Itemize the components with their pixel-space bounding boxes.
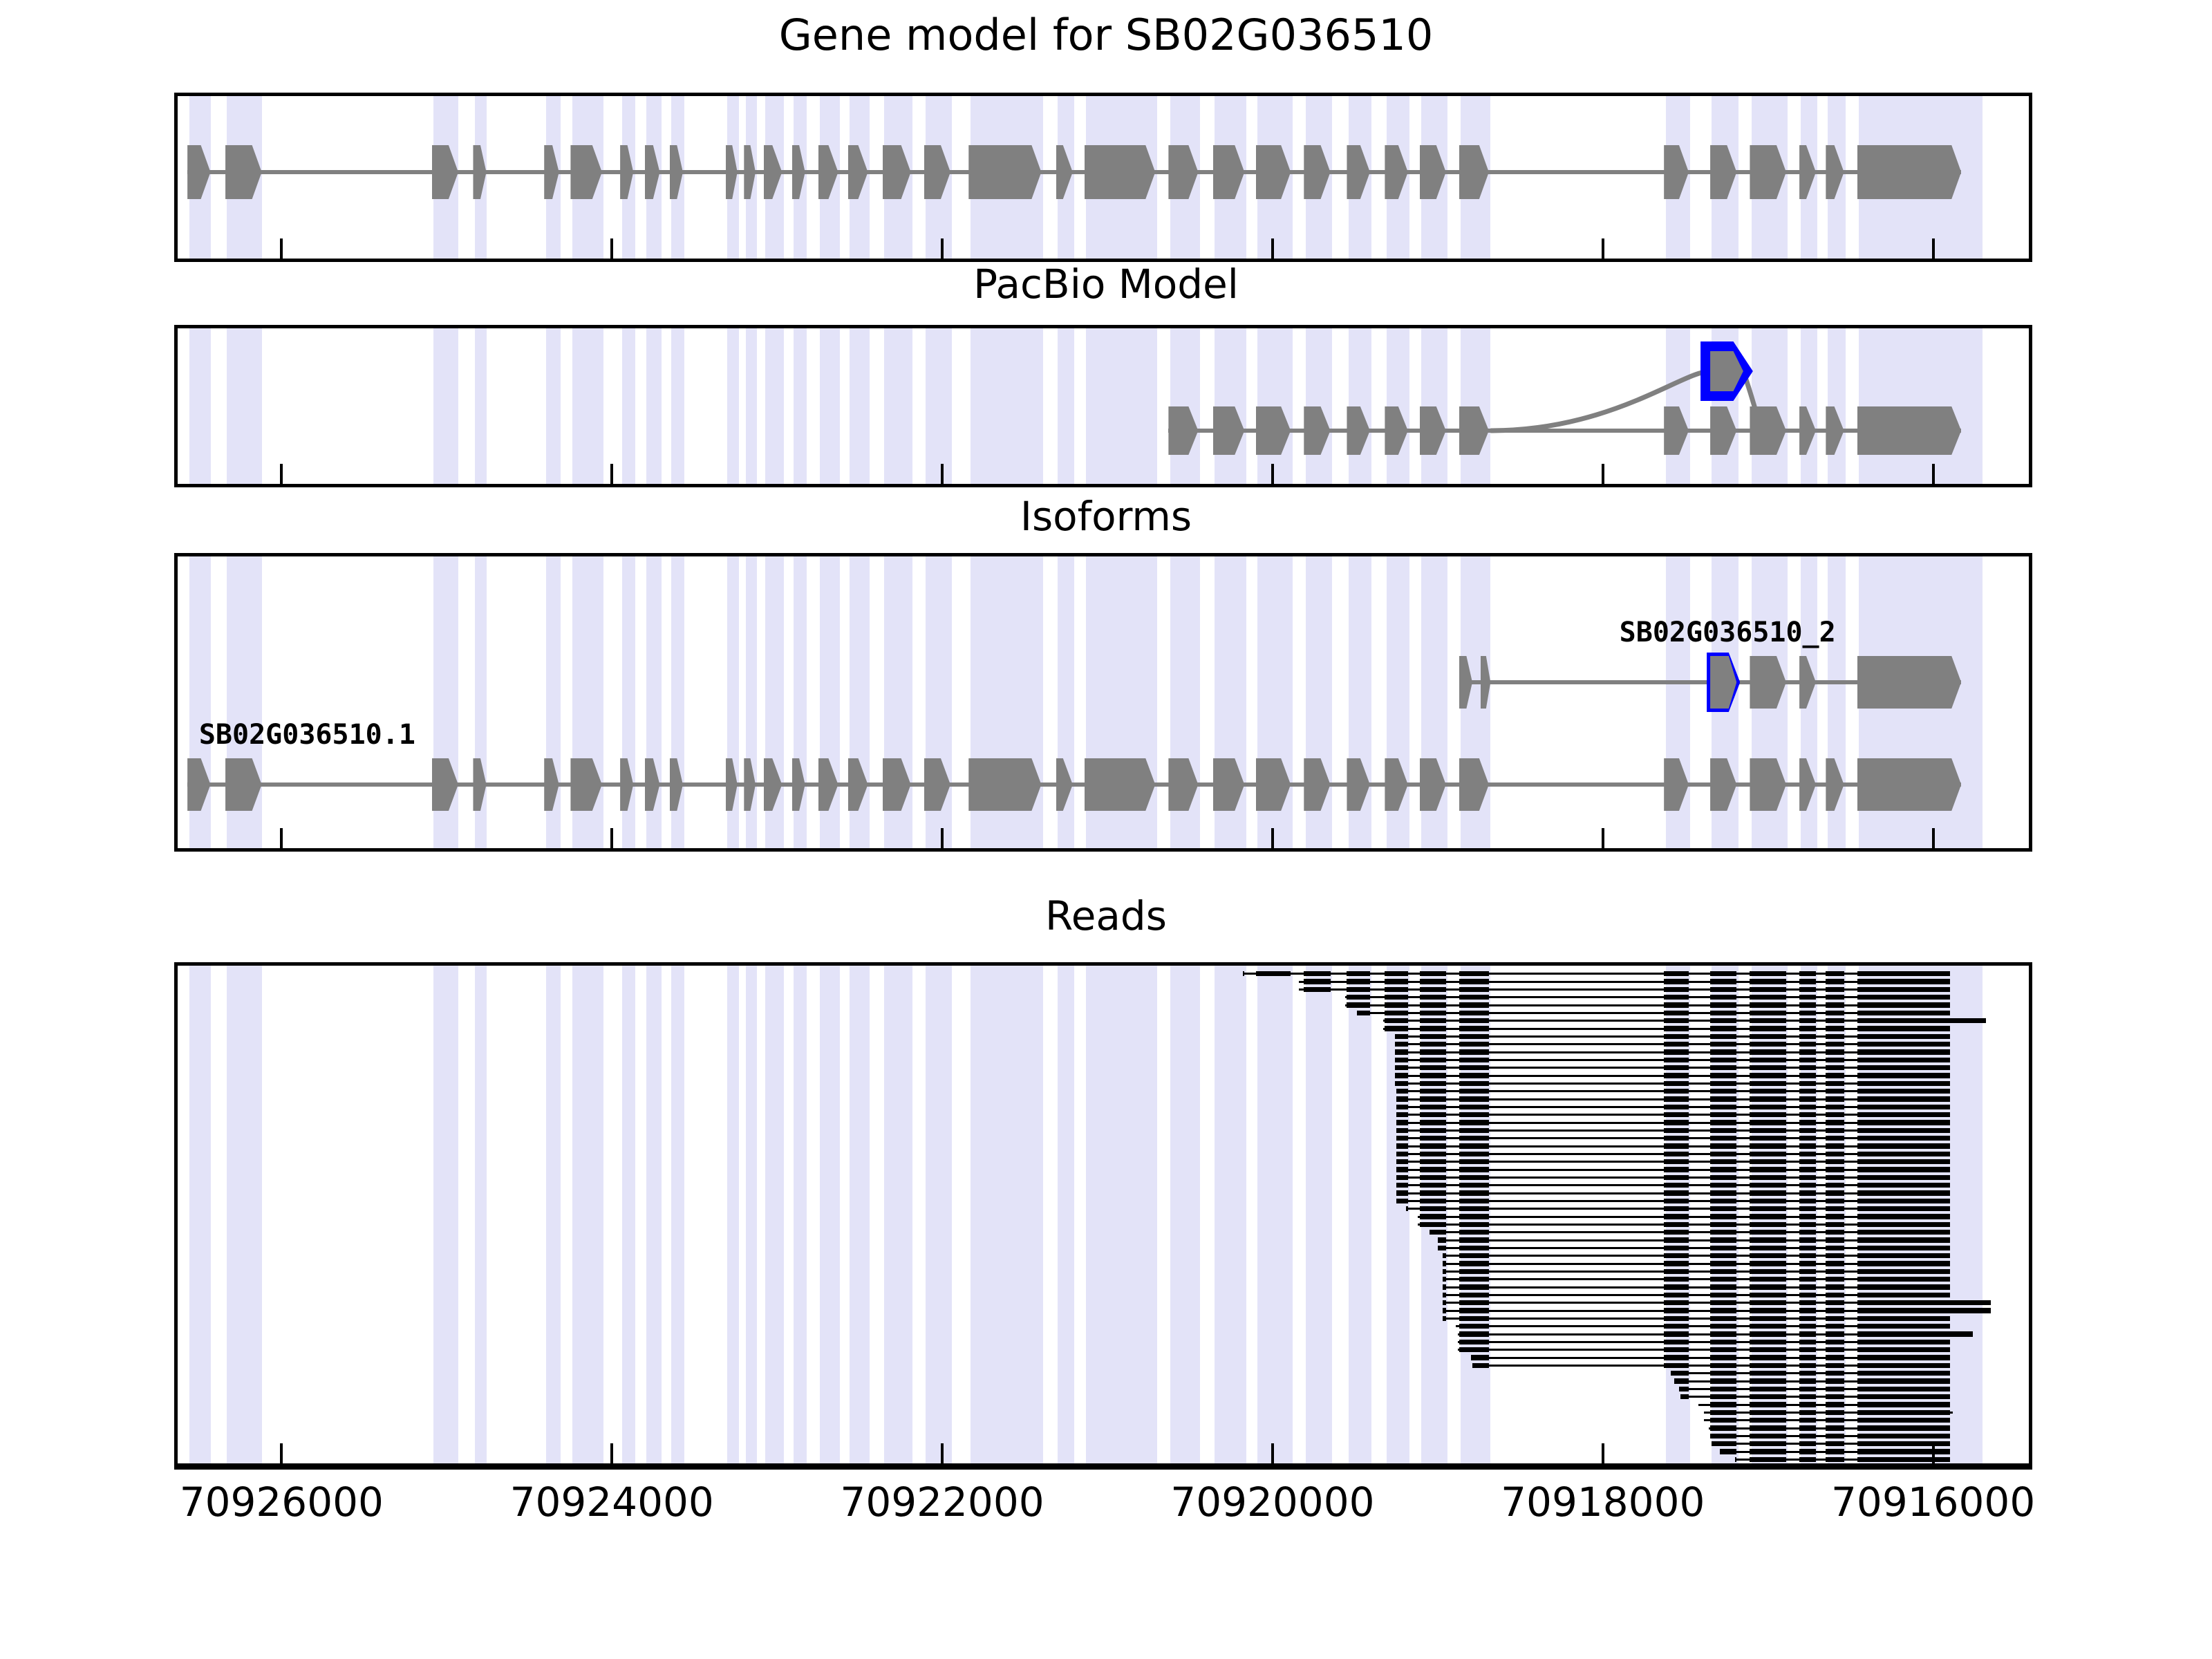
read-exon-block <box>1396 1159 1408 1164</box>
read-exon-block <box>1710 1206 1736 1211</box>
read-exon-block <box>1826 1253 1844 1258</box>
read-exon-block <box>1385 995 1407 1000</box>
read-exon-block <box>1799 1081 1816 1086</box>
read-exon-block <box>1799 1378 1816 1383</box>
read-exon-block <box>1459 1175 1489 1180</box>
read-exon-block <box>1799 1371 1816 1376</box>
read-exon-block <box>1799 1284 1816 1289</box>
read-exon-block <box>1750 1449 1786 1454</box>
panel-title-isoforms: Isoforms <box>0 496 2212 536</box>
read-exon-block <box>1710 1128 1736 1133</box>
read-exon-block <box>1750 979 1786 984</box>
read-exon-block <box>1799 1402 1816 1407</box>
read-exon-block <box>1710 1018 1736 1023</box>
highlight-band <box>622 966 635 1463</box>
read-exon-block <box>1826 1222 1844 1227</box>
read-exon-block <box>1459 971 1489 976</box>
read-exon-block <box>1347 987 1369 992</box>
read-exon-block <box>1826 1011 1844 1015</box>
read-exon-block <box>1857 1136 1950 1141</box>
read-exon-block <box>1664 995 1689 1000</box>
read-exon-block <box>1664 1159 1689 1164</box>
read-exon-block <box>1710 1253 1736 1258</box>
read-exon-block <box>1799 1120 1816 1125</box>
read-exon-block <box>1799 1269 1816 1274</box>
read-exon-block <box>1826 1394 1844 1399</box>
read-exon-block <box>1857 1112 1950 1117</box>
read-overhang-block <box>1950 1018 1987 1023</box>
read-exon-block <box>1710 1300 1736 1305</box>
read-exon-block <box>1857 971 1950 976</box>
read-exon-block <box>1735 1457 1736 1462</box>
read-exon-block <box>1799 1324 1816 1329</box>
read-exon-block <box>1664 1034 1689 1039</box>
read-exon-block <box>1799 1002 1816 1007</box>
read-exon-block <box>1826 1026 1844 1031</box>
read-exon-block <box>1710 1175 1736 1180</box>
read-exon-block <box>1826 1002 1844 1007</box>
read-exon-block <box>1420 1026 1446 1031</box>
highlight-band <box>433 966 458 1463</box>
read-exon-block <box>1664 1269 1689 1274</box>
read-exon-block <box>1750 1152 1786 1156</box>
read-exon-block <box>1459 1269 1489 1274</box>
read-exon-block <box>1664 987 1689 992</box>
panel-title-gene-model: Gene model for SB02G036510 <box>0 14 2212 57</box>
read-exon-block <box>1304 971 1330 976</box>
read-exon-block <box>1857 1316 1950 1321</box>
read-exon-block <box>1710 1159 1736 1164</box>
highlight-band <box>189 966 211 1463</box>
read-exon-block <box>1826 1371 1844 1376</box>
read-exon-block <box>1710 1136 1736 1141</box>
panel-title-pacbio-model: PacBio Model <box>0 264 2212 304</box>
read-exon-block <box>1664 1167 1689 1172</box>
read-exon-block <box>1750 1058 1786 1062</box>
read-exon-block <box>1664 1331 1689 1336</box>
read-exon-block <box>1799 1261 1816 1266</box>
read-exon-block <box>1750 1441 1786 1446</box>
read-overhang-block <box>1950 1308 1991 1313</box>
read-exon-block <box>1799 971 1816 976</box>
read-exon-block <box>1857 1018 1950 1023</box>
highlight-band <box>1306 328 1332 484</box>
highlight-band <box>1387 966 1409 1463</box>
read-exon-block <box>1459 1300 1489 1305</box>
read-exon-block <box>1750 1096 1786 1101</box>
read-exon-block <box>1826 1300 1844 1305</box>
read-exon-block <box>1826 1425 1844 1430</box>
read-exon-block <box>1799 1152 1816 1156</box>
read-exon-block <box>1664 1222 1689 1227</box>
read-exon-block <box>1420 979 1446 984</box>
read-exon-block <box>1799 1096 1816 1101</box>
panel-gene-model <box>174 93 2032 262</box>
read-exon-block <box>1799 1128 1816 1133</box>
read-exon-block <box>1664 1058 1689 1062</box>
read-exon-block <box>1396 1120 1408 1125</box>
read-exon-block <box>1664 1277 1689 1282</box>
read-exon-block <box>1396 1190 1408 1195</box>
read-exon-block <box>1664 1324 1689 1329</box>
read-exon-block <box>1664 1175 1689 1180</box>
read-exon-block <box>1459 1214 1489 1219</box>
read-exon-block <box>1826 1434 1844 1438</box>
read-exon-block <box>1459 1308 1489 1313</box>
highlight-band <box>475 966 487 1463</box>
read-exon-block <box>1459 1230 1489 1235</box>
read-exon-block <box>1710 1049 1736 1054</box>
read-exon-block <box>1385 1002 1407 1007</box>
read-exon-block <box>1710 1284 1736 1289</box>
read-exon-block <box>1420 987 1446 992</box>
read-exon-block <box>1459 1167 1489 1172</box>
read-exon-block <box>1799 1112 1816 1117</box>
read-exon-block <box>1710 1081 1736 1086</box>
highlight-band <box>1086 328 1157 484</box>
read-exon-block <box>1857 1096 1950 1101</box>
read-exon-block <box>1438 1237 1446 1242</box>
read-exon-block <box>1459 1206 1489 1211</box>
highlight-band <box>671 966 684 1463</box>
axis-tick <box>280 1443 283 1464</box>
read-exon-block <box>1826 1034 1844 1039</box>
read-exon-block <box>1459 1190 1489 1195</box>
read-exon-block <box>1750 1363 1786 1368</box>
read-exon-block <box>1857 1449 1950 1454</box>
read-exon-block <box>1826 1206 1844 1211</box>
highlight-band <box>926 328 952 484</box>
read-exon-block <box>1396 1136 1408 1141</box>
read-exon-block <box>1420 1081 1446 1086</box>
read-exon-block <box>1664 1105 1689 1109</box>
read-exon-block <box>1857 1441 1950 1446</box>
read-exon-block <box>1799 1340 1816 1344</box>
read-exon-block <box>1459 1324 1489 1329</box>
read-exon-block <box>1664 1002 1689 1007</box>
highlight-band <box>572 966 603 1463</box>
read-exon-block <box>1826 1410 1844 1415</box>
read-exon-block <box>1395 1065 1408 1070</box>
read-exon-block <box>1710 1089 1736 1094</box>
read-exon-block <box>1857 1387 1950 1391</box>
read-exon-block <box>1459 1277 1489 1282</box>
highlight-band <box>820 328 840 484</box>
read-exon-block <box>1459 1284 1489 1289</box>
read-exon-block <box>1710 1363 1736 1368</box>
highlight-band <box>884 328 912 484</box>
read-exon-block <box>1396 1152 1408 1156</box>
read-exon-block <box>1710 1105 1736 1109</box>
read-exon-block <box>1710 1120 1736 1125</box>
read-exon-block <box>1664 1018 1689 1023</box>
read-exon-block <box>1710 1230 1736 1235</box>
gene-model-figure: Gene model for SB02G036510 PacBio Model … <box>0 0 2212 1659</box>
read-exon-block <box>1420 1159 1446 1164</box>
read-exon-block <box>1420 1089 1446 1094</box>
read-exon-block <box>1395 1049 1408 1054</box>
read-exon-block <box>1857 979 1950 984</box>
read-exon-block <box>1459 1058 1489 1062</box>
highlight-band <box>1215 966 1246 1463</box>
read-exon-block <box>1857 1355 1950 1360</box>
highlight-band <box>475 328 487 484</box>
read-exon-block <box>1396 1183 1408 1188</box>
highlight-band <box>1170 328 1200 484</box>
read-exon-block <box>1395 1081 1408 1086</box>
read-exon-block <box>1664 1237 1689 1242</box>
read-exon-block <box>1826 1065 1844 1070</box>
read-exon-block <box>1664 1081 1689 1086</box>
read-exon-block <box>1710 1143 1736 1148</box>
read-exon-block <box>1826 1418 1844 1423</box>
read-exon-block <box>1396 1175 1408 1180</box>
read-exon-block <box>1443 1293 1446 1297</box>
read-exon-block <box>1799 1222 1816 1227</box>
read-exon-block <box>1710 1402 1736 1407</box>
read-exon-block <box>1750 1378 1786 1383</box>
highlight-band <box>671 328 684 484</box>
read-exon-block <box>1826 1058 1844 1062</box>
highlight-band <box>646 966 662 1463</box>
read-exon-block <box>1826 1293 1844 1297</box>
read-exon-block <box>1443 1300 1446 1305</box>
read-exon-block <box>1750 1410 1786 1415</box>
read-exon-block <box>1857 1347 1950 1352</box>
highlight-band <box>794 966 807 1463</box>
highlight-band <box>727 966 739 1463</box>
read-exon-block <box>1664 1112 1689 1117</box>
read-exon-block <box>1420 1190 1446 1195</box>
read-exon-block <box>1750 1402 1786 1407</box>
read-exon-block <box>1826 979 1844 984</box>
read-exon-block <box>1710 1246 1736 1250</box>
read-exon-block <box>1710 971 1736 976</box>
read-exon-block <box>1826 1049 1844 1054</box>
read-exon-block <box>1799 979 1816 984</box>
read-exon-block <box>1664 1199 1689 1203</box>
read-exon-block <box>1396 1089 1408 1094</box>
read-exon-block <box>1750 1434 1786 1438</box>
axis-tick <box>610 828 613 849</box>
read-exon-block <box>1750 1026 1786 1031</box>
read-exon-block <box>1826 1042 1844 1047</box>
read-exon-block <box>1799 1293 1816 1297</box>
read-exon-block <box>1395 1058 1408 1062</box>
read-exon-block <box>1385 971 1407 976</box>
read-exon-block <box>1710 1340 1736 1344</box>
read-exon-block <box>1826 1457 1844 1462</box>
read-exon-block <box>1710 987 1736 992</box>
highlight-band <box>227 966 261 1463</box>
axis-tick-label: 70922000 <box>762 1482 1122 1522</box>
read-exon-block <box>1750 1261 1786 1266</box>
read-exon-block <box>1750 995 1786 1000</box>
read-exon-block <box>1420 1034 1446 1039</box>
read-exon-block <box>1420 1222 1446 1227</box>
read-exon-block <box>1826 1167 1844 1172</box>
read-exon-block <box>1710 1112 1736 1117</box>
highlight-band <box>1801 328 1817 484</box>
read-exon-block <box>1799 995 1816 1000</box>
read-exon-block <box>1664 1152 1689 1156</box>
read-exon-block <box>1857 1253 1950 1258</box>
read-exon-block <box>1430 1230 1446 1235</box>
read-exon-block <box>1680 1394 1689 1399</box>
read-exon-block <box>1857 1308 1950 1313</box>
read-exon-block <box>1799 1034 1816 1039</box>
read-exon-block <box>1750 1081 1786 1086</box>
read-exon-block <box>1304 987 1330 992</box>
read-exon-block <box>1420 1049 1446 1054</box>
read-exon-block <box>1443 1284 1446 1289</box>
read-exon-block <box>1857 1434 1950 1438</box>
read-exon-block <box>1420 1175 1446 1180</box>
read-exon-block <box>1710 1308 1736 1313</box>
read-exon-block <box>1664 1089 1689 1094</box>
read-exon-block <box>1664 1128 1689 1133</box>
read-exon-block <box>1826 1089 1844 1094</box>
highlight-band <box>1666 328 1691 484</box>
highlight-band <box>1058 966 1074 1463</box>
read-exon-block <box>1420 1214 1446 1219</box>
read-exon-block <box>1750 1340 1786 1344</box>
read-exon-block <box>1799 1073 1816 1078</box>
highlight-band <box>765 966 783 1463</box>
read-exon-block <box>1799 1457 1816 1462</box>
axis-tick <box>1602 238 1604 259</box>
read-exon-block <box>1664 1347 1689 1352</box>
read-exon-block <box>1750 1143 1786 1148</box>
read-exon-block <box>1857 1206 1950 1211</box>
read-exon-block <box>1256 971 1291 976</box>
read-exon-block <box>1459 1081 1489 1086</box>
read-exon-block <box>1750 1049 1786 1054</box>
read-exon-block <box>1750 1277 1786 1282</box>
read-exon-block <box>1826 1378 1844 1383</box>
read-exon-block <box>1664 1049 1689 1054</box>
read-exon-block <box>1857 1246 1950 1250</box>
read-exon-block <box>1710 1394 1736 1399</box>
read-exon-block <box>1826 1143 1844 1148</box>
highlight-band <box>1349 966 1371 1463</box>
read-exon-block <box>1710 1347 1736 1352</box>
read-exon-block <box>1459 1143 1489 1148</box>
read-exon-block <box>1750 1371 1786 1376</box>
read-exon-block <box>1826 1402 1844 1407</box>
read-exon-block <box>1664 1253 1689 1258</box>
read-exon-block <box>1799 1089 1816 1094</box>
read-exon-block <box>1857 1081 1950 1086</box>
read-exon-block <box>1750 1214 1786 1219</box>
read-exon-block <box>1750 1324 1786 1329</box>
read-exon-block <box>1826 1340 1844 1344</box>
highlight-band <box>746 328 758 484</box>
read-exon-block <box>1750 1206 1786 1211</box>
read-exon-block <box>1710 1011 1736 1015</box>
read-exon-block <box>1420 1105 1446 1109</box>
read-exon-block <box>1799 1237 1816 1242</box>
read-exon-block <box>1857 1284 1950 1289</box>
read-exon-block <box>1750 1034 1786 1039</box>
read-exon-block <box>1750 1300 1786 1305</box>
read-exon-block <box>1710 1002 1736 1007</box>
read-overhang-block <box>1950 1331 1973 1336</box>
read-exon-block <box>1710 1293 1736 1297</box>
read-exon-block <box>1710 1237 1736 1242</box>
read-exon-block <box>1750 1308 1786 1313</box>
read-exon-block <box>1826 1105 1844 1109</box>
read-exon-block <box>1826 1324 1844 1329</box>
read-exon-block <box>1385 1011 1407 1015</box>
read-exon-block <box>1857 1378 1950 1383</box>
highlight-band <box>1306 966 1332 1463</box>
read-exon-block <box>1857 995 1950 1000</box>
read-exon-block <box>1826 1081 1844 1086</box>
panel-isoforms: SB02G036510_2SB02G036510.1 <box>174 553 2032 852</box>
read-exon-block <box>1710 1214 1736 1219</box>
isoform-label: SB02G036510_2 <box>1620 619 1836 646</box>
axis-tick <box>1932 464 1935 485</box>
highlight-band <box>820 966 840 1463</box>
read-exon-block <box>1710 1034 1736 1039</box>
read-exon-block <box>1750 1387 1786 1391</box>
read-exon-block <box>1857 1128 1950 1133</box>
highlight-band <box>1058 328 1074 484</box>
read-exon-block <box>1664 1340 1689 1344</box>
read-exon-block <box>1664 1293 1689 1297</box>
read-exon-block <box>1459 1246 1489 1250</box>
read-exon-block <box>1750 1073 1786 1078</box>
read-exon-block <box>1459 1026 1489 1031</box>
read-exon-block <box>1799 1175 1816 1180</box>
exon-block <box>1857 758 1962 811</box>
read-exon-block <box>1857 1042 1950 1047</box>
read-exon-block <box>1826 1214 1844 1219</box>
read-exon-block <box>1664 1065 1689 1070</box>
read-exon-block <box>1826 1230 1844 1235</box>
axis-tick <box>1932 238 1935 259</box>
read-exon-block <box>1396 1143 1408 1148</box>
read-exon-block <box>1857 1394 1950 1399</box>
read-exon-block <box>1664 1316 1689 1321</box>
read-exon-block <box>1243 971 1244 976</box>
read-exon-block <box>1710 1316 1736 1321</box>
read-exon-block <box>1826 1096 1844 1101</box>
read-exon-block <box>1420 971 1446 976</box>
read-exon-block <box>1385 979 1407 984</box>
exon-block <box>1857 406 1962 455</box>
read-exon-block <box>1750 1230 1786 1235</box>
read-exon-block <box>1826 1284 1844 1289</box>
read-exon-block <box>1420 1143 1446 1148</box>
read-exon-block <box>1459 1340 1489 1344</box>
read-exon-block <box>1443 1316 1446 1321</box>
read-exon-block <box>1857 1199 1950 1203</box>
read-exon-block <box>1750 987 1786 992</box>
read-exon-block <box>1420 1128 1446 1133</box>
read-exon-block <box>1750 1222 1786 1227</box>
read-exon-block <box>1664 979 1689 984</box>
read-exon-block <box>1406 1206 1407 1211</box>
read-exon-block <box>1459 1018 1489 1023</box>
read-exon-block <box>1857 1049 1950 1054</box>
read-exon-block <box>1799 1230 1816 1235</box>
read-exon-block <box>1710 1183 1736 1188</box>
read-exon-block <box>1671 1371 1689 1376</box>
read-exon-block <box>1799 1159 1816 1164</box>
read-exon-block <box>1459 1002 1489 1007</box>
